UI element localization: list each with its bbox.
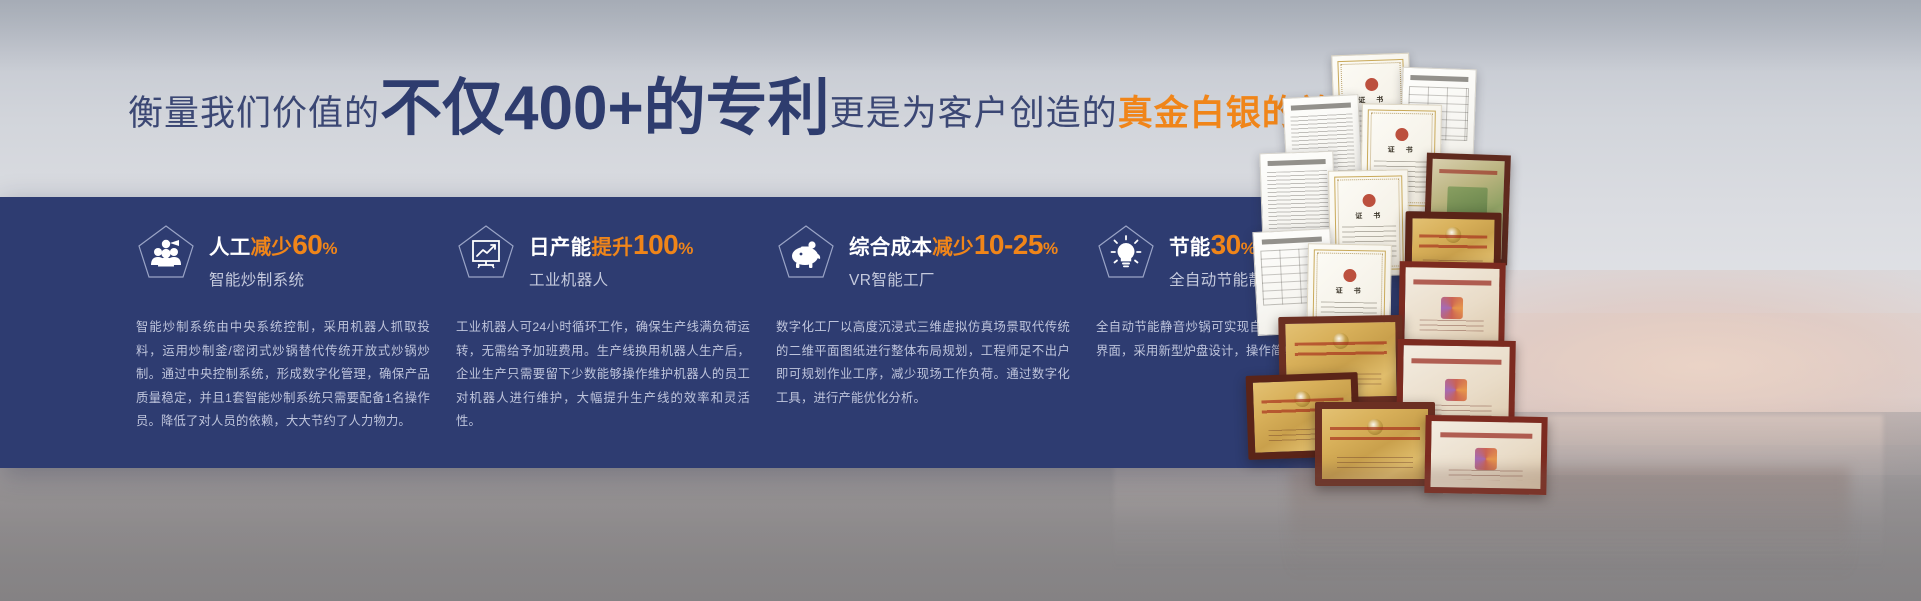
feature-title-prefix: 节能: [1169, 236, 1211, 259]
marketing-banner: 衡量我们价值的 不仅400+的专利 更是为客户创造的 真金白银的效益: [0, 0, 1921, 601]
feature-panel-inner: 人工减少60% 智能炒制系统 智能炒制系统由中央系统控制，采用机器人抓取投料，运…: [0, 197, 1422, 468]
feature-body-text: 智能炒制系统由中央系统控制，采用机器人抓取投料，运用炒制釜/密闭式炒锅替代传统开…: [136, 316, 430, 434]
feature-header: 综合成本减少10-25% VR智能工厂: [776, 223, 1070, 297]
feature-title-number: 30: [1211, 229, 1241, 260]
headline-middle: 更是为客户创造的: [830, 85, 1118, 136]
feature-subtitle: VR智能工厂: [849, 268, 1058, 290]
feature-title-prefix: 日产能: [529, 236, 591, 259]
feature-titles: 日产能提升100% 工业机器人: [529, 223, 694, 290]
feature-title: 综合成本减少10-25%: [849, 229, 1058, 261]
award-plaque-red-right: [1398, 261, 1505, 347]
feature-item: 人工减少60% 智能炒制系统 智能炒制系统由中央系统控制，采用机器人抓取投料，运…: [136, 223, 456, 468]
feature-header: 人工减少60% 智能炒制系统: [136, 223, 430, 297]
feature-header: 日产能提升100% 工业机器人: [456, 223, 750, 297]
feature-subtitle: 智能炒制系统: [209, 268, 338, 290]
feature-title-emphasis: 减少: [251, 236, 293, 259]
feature-title-emphasis: 减少: [932, 236, 974, 259]
feature-panel: 人工减少60% 智能炒制系统 智能炒制系统由中央系统控制，采用机器人抓取投料，运…: [0, 197, 1422, 468]
feature-title-emphasis: 提升: [591, 236, 633, 259]
feature-titles: 综合成本减少10-25% VR智能工厂: [849, 223, 1058, 290]
chart-growth-icon: [456, 223, 516, 281]
people-group-icon: [136, 223, 196, 281]
award-plaque-gold-bottom-mid: [1315, 402, 1435, 486]
feature-title-unit: %: [1043, 239, 1058, 258]
certificate-award-stack: 证 书 证 书 证 书 证 书: [1255, 44, 1921, 514]
feature-title-number: 10-25: [974, 229, 1043, 260]
feature-titles: 人工减少60% 智能炒制系统: [209, 223, 338, 290]
feature-title-prefix: 人工: [209, 236, 251, 259]
feature-item: 日产能提升100% 工业机器人 工业机器人可24小时循环工作，确保生产线满负荷运…: [456, 223, 776, 468]
feature-item: 综合成本减少10-25% VR智能工厂 数字化工厂以高度沉浸式三维虚拟仿真场景取…: [776, 223, 1096, 468]
feature-title-unit: %: [678, 239, 693, 258]
feature-title-number: 60: [292, 229, 322, 260]
lightbulb-icon: [1096, 223, 1156, 281]
feature-title: 日产能提升100%: [529, 229, 694, 261]
piggy-bank-icon: [776, 223, 836, 281]
feature-title-prefix: 综合成本: [849, 236, 932, 259]
feature-title: 人工减少60%: [209, 229, 338, 261]
award-plaque-red-bottom-right: [1424, 415, 1547, 495]
feature-title-number: 100: [633, 229, 678, 260]
feature-subtitle: 工业机器人: [529, 268, 694, 290]
feature-body-text: 数字化工厂以高度沉浸式三维虚拟仿真场景取代传统的二维平面图纸进行整体布局规划，工…: [776, 316, 1070, 410]
headline: 衡量我们价值的 不仅400+的专利 更是为客户创造的 真金白银的效益: [128, 74, 1370, 136]
feature-title-unit: %: [322, 239, 337, 258]
headline-emphasis: 不仅400+的专利: [380, 78, 830, 140]
feature-body-text: 工业机器人可24小时循环工作，确保生产线满负荷运转，无需给予加班费用。生产线换用…: [456, 316, 750, 434]
headline-lead: 衡量我们价值的: [128, 85, 380, 136]
